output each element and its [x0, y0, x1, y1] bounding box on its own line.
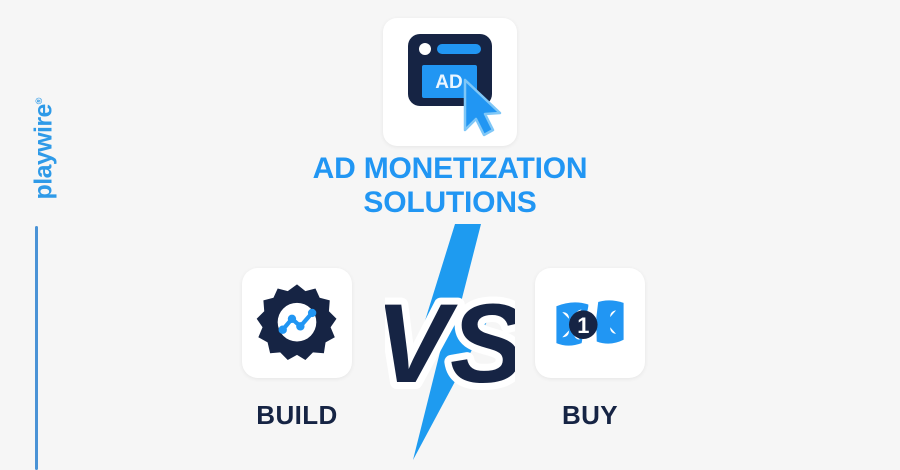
- playwire-logo[interactable]: playwire®: [30, 64, 59, 234]
- option-buy[interactable]: 1 BUY: [515, 268, 665, 431]
- money-banknote-icon: 1: [535, 268, 645, 378]
- registered-trademark-symbol: ®: [34, 98, 44, 105]
- coin-value-label: 1: [577, 313, 589, 338]
- poster-canvas: playwire® AD AD MONETIZATION SOLUTIONS: [0, 0, 900, 470]
- ad-banner-label: AD: [435, 72, 462, 93]
- option-buy-label: BUY: [515, 400, 665, 431]
- gear-analytics-icon: [242, 268, 352, 378]
- page-title-line-1: AD MONETIZATION: [250, 152, 650, 186]
- page-title-line-2: SOLUTIONS: [250, 186, 650, 220]
- option-build-label: BUILD: [222, 400, 372, 431]
- versus-letters: VS VS: [385, 281, 515, 406]
- versus-badge: VS VS: [385, 222, 515, 462]
- brand-accent-line: [35, 226, 38, 470]
- page-title: AD MONETIZATION SOLUTIONS: [250, 152, 650, 220]
- browser-url-bar: [437, 44, 481, 54]
- playwire-wordmark-text: playwire: [30, 104, 58, 199]
- ad-browser-window-icon: AD: [383, 18, 517, 146]
- versus-letters-fill: VS: [385, 281, 515, 406]
- option-build[interactable]: BUILD: [222, 268, 372, 431]
- browser-dot-icon: [419, 43, 431, 55]
- brand-rail: playwire®: [0, 0, 80, 470]
- banknote-right: [596, 300, 624, 343]
